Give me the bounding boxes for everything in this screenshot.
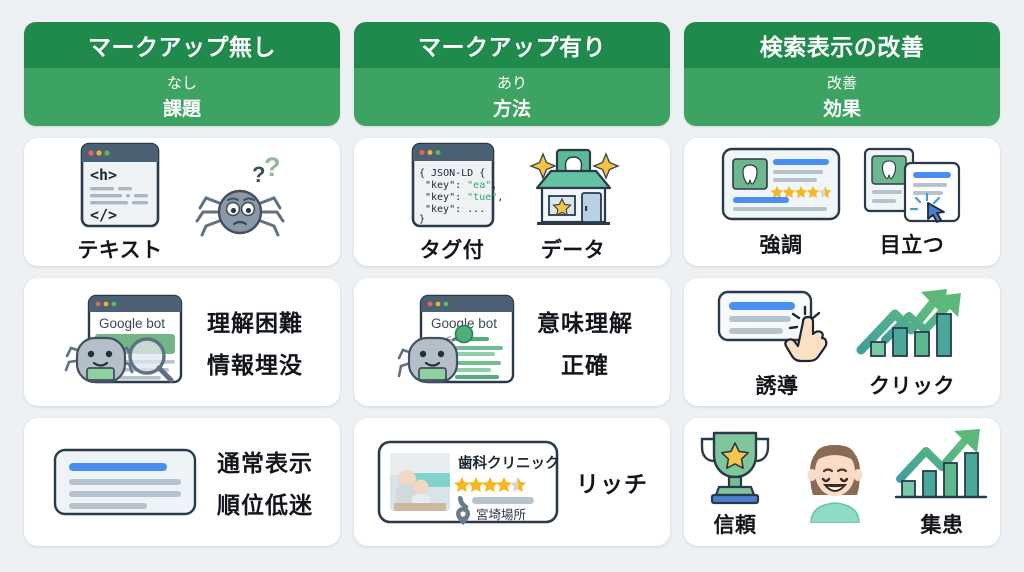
column-subtitle: なし [167,72,197,93]
unit-googlebot-search: Google bot [61,290,191,394]
card-text-spider: <h> </> テキスト [24,138,340,266]
unit-label: タグ付 [420,234,485,264]
text-line-1: 通常表示 [217,444,313,478]
card-guidance-click: 誘導 クリック [684,278,1000,406]
text-block-ranking: 通常表示 順位低迷 [217,444,313,520]
unit-googlebot-structured: Google bot <<< [391,290,521,394]
code-window-icon: <h> </> [68,140,172,232]
unit-plain-result [51,445,201,519]
unit-label: 信頼 [714,509,757,539]
column-keyword: 効果 [823,94,861,121]
column-no-markup: マークアップ無し なし 課題 <h> </> テキスト [24,22,340,546]
column-title: マークアップ無し [24,22,340,68]
unit-spider: ? ? [188,156,296,248]
column-header-body: なし 課題 [24,68,340,126]
svg-text:</>: </> [90,206,117,224]
text-block-understanding: 意味理解 正確 [537,304,633,380]
svg-text:"key": ...: "key": ... [425,204,485,215]
growth-chart-arrows-icon [855,284,969,368]
unit-label: 集患 [921,509,964,539]
column-keyword: 課題 [163,94,201,121]
text-line-2: 情報埋没 [207,346,303,380]
unit-text: <h> </> テキスト [68,140,172,264]
text-line-1: 理解困難 [207,304,303,338]
infographic-board: マークアップ無し なし 課題 <h> </> テキスト [0,0,1024,572]
click-hand-result-icon [715,284,839,368]
column-search-improvement: 検索表示の改善 改善 効果 [684,22,1000,546]
svg-text:<h>: <h> [90,166,117,184]
rich-snippet-card-icon: 歯科クリニック 宮埼場所 [376,437,560,527]
unit-guidance: 誘導 [715,284,839,400]
column-with-markup: マークアップ有り あり 方法 { JSON-LD { "key": "ea", … [354,22,670,546]
card-googlebot-structured: Google bot <<< [354,278,670,406]
column-title: マークアップ有り [354,22,670,68]
card-highlight-standout: 強調 目立つ [684,138,1000,266]
code-line-1: { JSON-LD { [419,168,485,179]
unit-label: 誘導 [756,370,799,400]
googlebot-search-window-icon: Google bot [61,290,191,394]
column-header-body: あり 方法 [354,68,670,126]
column-title: 検索表示の改善 [684,22,1000,68]
unit-data: データ [521,140,625,264]
column-header-improvement: 検索表示の改善 改善 効果 [684,22,1000,126]
snippet-place: 宮埼場所 [476,507,526,522]
unit-standout: 目立つ [859,145,965,259]
column-header-with-markup: マークアップ有り あり 方法 [354,22,670,126]
window-title: Google bot [99,316,165,331]
text-block-rich: リッチ [576,465,648,499]
unit-label: データ [541,234,606,264]
unit-patient-growth: 集患 [892,425,992,539]
highlighted-result-card-icon [719,145,843,227]
unit-highlight: 強調 [719,145,843,259]
dental-clinic-storefront-icon [521,140,625,232]
stacked-results-click-icon [859,145,965,227]
unit-label: クリック [869,370,955,400]
card-plain-result: 通常表示 順位低迷 [24,418,340,546]
svg-text:}: } [419,214,425,225]
trophy-icon [692,425,778,507]
text-block-problems: 理解困難 情報埋没 [207,304,303,380]
smiling-patient-avatar-icon [794,441,876,523]
unit-label: 目立つ [880,229,945,259]
plain-result-card-icon [51,445,201,519]
column-keyword: 方法 [493,94,531,121]
unit-rich-snippet: 歯科クリニック 宮埼場所 [376,437,560,527]
confused-spider-icon: ? ? [188,156,296,248]
svg-text:"key": "tue",: "key": "tue", [425,192,503,203]
card-googlebot-confused: Google bot [24,278,340,406]
card-trust-patients: 信頼 [684,418,1000,546]
text-line-1: 意味理解 [537,304,633,338]
column-subtitle: あり [497,72,527,93]
snippet-title: 歯科クリニック [458,454,560,472]
googlebot-structured-window-icon: Google bot <<< [391,290,521,394]
svg-text:"key": "ea",: "key": "ea", [425,180,497,191]
text-line-1: リッチ [576,465,648,499]
text-line-2: 順位低迷 [217,486,313,520]
column-header-body: 改善 効果 [684,68,1000,126]
column-header-no-markup: マークアップ無し なし 課題 [24,22,340,126]
growth-chart-icon [892,425,992,507]
unit-tagging: { JSON-LD { "key": "ea", "key": "tue", "… [399,140,505,264]
jsonld-window-icon: { JSON-LD { "key": "ea", "key": "tue", "… [399,140,505,232]
column-subtitle: 改善 [827,72,857,93]
unit-label: 強調 [760,229,803,259]
unit-click: クリック [855,284,969,400]
card-rich-snippet: 歯科クリニック 宮埼場所 リッ [354,418,670,546]
card-jsonld-clinic: { JSON-LD { "key": "ea", "key": "tue", "… [354,138,670,266]
question-mark-2: ? [264,156,281,182]
unit-patient-avatar [794,441,876,523]
text-line-2: 正確 [561,346,609,380]
unit-label: テキスト [77,234,162,264]
unit-trust: 信頼 [692,425,778,539]
